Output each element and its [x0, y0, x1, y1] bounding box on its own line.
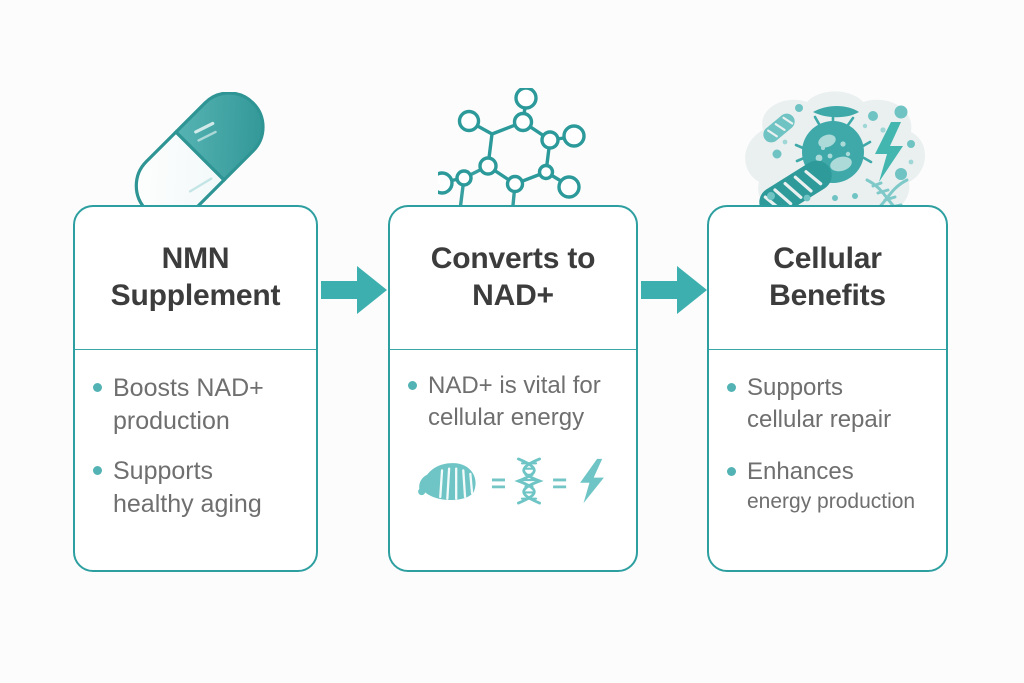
list-item: Supports cellular repair	[727, 372, 928, 436]
bullet-dot-icon	[93, 466, 102, 475]
bullet-line2: cellular energy	[428, 402, 601, 434]
bullet-line2: cellular repair	[747, 404, 891, 436]
arrow-step2-to-step3	[639, 262, 709, 318]
bullet-text: Boosts NAD+ production	[113, 372, 264, 439]
bullet-dot-icon	[727, 383, 736, 392]
list-item: Enhances energy production	[727, 456, 928, 516]
dna-helix-icon	[514, 456, 544, 511]
bullet-text: Enhances energy production	[747, 456, 915, 516]
bullet-line1: Supports	[113, 455, 262, 488]
bullet-line2: healthy aging	[113, 488, 262, 521]
bullet-line1: Enhances	[747, 456, 915, 488]
bullet-dot-icon	[727, 467, 736, 476]
step-card-converts-to-nad[interactable]: Converts to NAD+ NAD+ is vital for cellu…	[388, 205, 638, 572]
card-body-cellular-benefits: Supports cellular repair Enhances energy…	[709, 350, 946, 570]
infographic-canvas: NMN Supplement Boosts NAD+ production Su…	[0, 0, 1024, 683]
card-title-cellular-benefits: Cellular Benefits	[709, 207, 946, 350]
card-title-nmn-supplement: NMN Supplement	[75, 207, 316, 350]
lightning-bolt-icon	[575, 457, 609, 510]
card-body-nmn-supplement: Boosts NAD+ production Supports healthy …	[75, 350, 316, 570]
bullet-dot-icon	[408, 381, 417, 390]
card-title-line1: Cellular	[773, 242, 881, 275]
bullet-text: NAD+ is vital for cellular energy	[428, 370, 601, 434]
capsule-pill-icon	[128, 92, 273, 220]
molecule-hexagon-icon	[438, 88, 593, 220]
step-card-cellular-benefits[interactable]: Cellular Benefits Supports cellular repa…	[707, 205, 948, 572]
equals-sign-2: =	[552, 470, 567, 496]
card-title-line1: Converts	[431, 242, 559, 275]
card-title-line2: Benefits	[769, 279, 886, 312]
mitochondria-icon	[417, 458, 483, 509]
card-title-line1: NMN	[162, 242, 230, 275]
bullet-line1: NAD+ is vital for	[428, 370, 601, 402]
list-item: Supports healthy aging	[93, 455, 298, 522]
card-body-converts-to-nad: NAD+ is vital for cellular energy	[390, 350, 636, 570]
step-card-nmn-supplement[interactable]: NMN Supplement Boosts NAD+ production Su…	[73, 205, 318, 572]
arrow-step1-to-step2	[319, 262, 389, 318]
bullet-line1: Boosts NAD+	[113, 372, 264, 405]
bullet-line2: production	[113, 405, 264, 438]
equals-sign-1: =	[491, 470, 506, 496]
list-item: Boosts NAD+ production	[93, 372, 298, 439]
list-item: NAD+ is vital for cellular energy	[408, 370, 618, 434]
bullet-line1: Supports	[747, 372, 891, 404]
bullet-text: Supports healthy aging	[113, 455, 262, 522]
bullet-text: Supports cellular repair	[747, 372, 891, 436]
card-title-line2: Supplement	[111, 279, 281, 312]
card-title-converts-to-nad: Converts to NAD+	[390, 207, 636, 350]
equation-row: = =	[408, 456, 618, 511]
bullet-dot-icon	[93, 383, 102, 392]
bullet-line2: energy production	[747, 488, 915, 516]
